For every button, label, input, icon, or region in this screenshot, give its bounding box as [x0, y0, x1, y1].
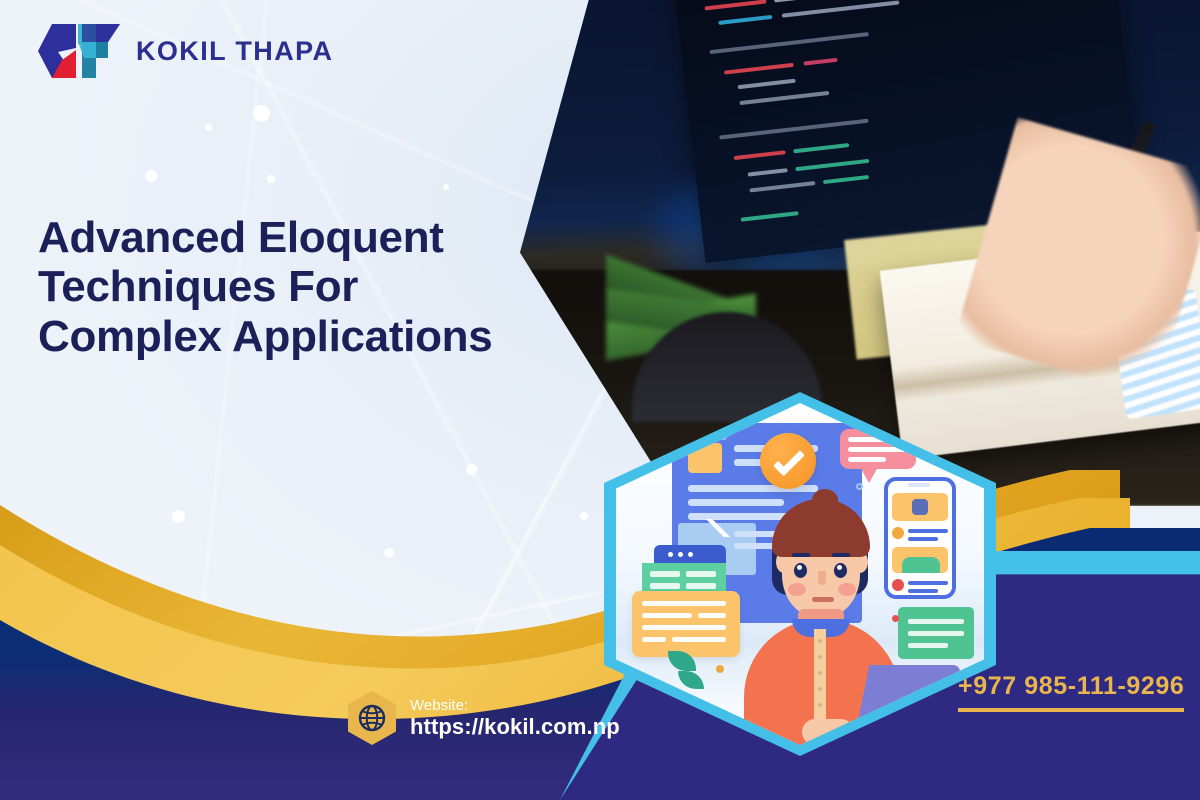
kt-monogram-logo-icon [38, 22, 122, 80]
page-title: Advanced Eloquent Techniques For Complex… [38, 213, 578, 361]
headline-line-1: Advanced Eloquent [38, 213, 578, 262]
brand-logo[interactable]: KOKIL THAPA [38, 22, 333, 80]
website-url[interactable]: https://kokil.com.np [410, 714, 620, 739]
headline-line-2: Techniques For [38, 262, 578, 311]
brand-name: KOKIL THAPA [136, 36, 333, 67]
banner-canvas: KOKIL THAPA Advanced Eloquent Techniques… [0, 0, 1200, 800]
phone-block[interactable]: +977 985-111-9296 [958, 672, 1184, 712]
globe-icon [348, 691, 396, 745]
phone-number[interactable]: +977 985-111-9296 [958, 672, 1184, 701]
website-label: Website: [410, 697, 620, 714]
headline-line-3: Complex Applications [38, 312, 578, 361]
phone-underline [958, 708, 1184, 712]
website-block[interactable]: Website: https://kokil.com.np [348, 691, 620, 745]
